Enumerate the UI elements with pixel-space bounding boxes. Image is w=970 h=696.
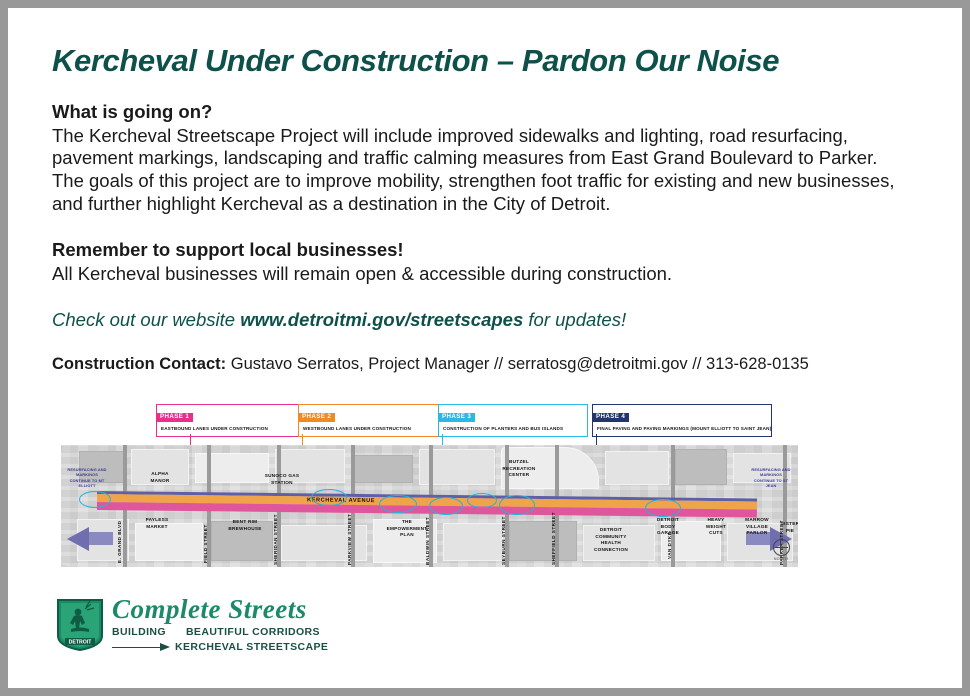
spacer: [52, 216, 922, 238]
phase-callout-4: PHASE 4 FINAL PAVING AND PAVING MARKINGS…: [592, 404, 772, 437]
map-street-label: VAN DYKE: [667, 532, 672, 559]
map-place-label: BENT RIM BREWHOUSE: [219, 519, 271, 532]
flyer-text-content: Kercheval Under Construction – Pardon Ou…: [52, 44, 922, 375]
logo-tagline-corridors: BEAUTIFUL CORRIDORS: [186, 626, 320, 638]
arrow-right-icon: [112, 643, 170, 652]
phase-1-description: EASTBOUND LANES UNDER CONSTRUCTION: [157, 423, 303, 436]
section-heading-what-is-going-on: What is going on?: [52, 100, 922, 124]
shield-wordmark: DETROIT: [69, 640, 93, 646]
phase-3-tag-wrap: PHASE 3: [439, 405, 587, 423]
map-street-label: PARKVIEW STREET: [347, 514, 352, 565]
edge-note-east: RESURFACING AND MARKINGS CONTINUE TO ST …: [751, 467, 791, 488]
section-body-support-local: All Kercheval businesses will remain ope…: [52, 263, 912, 286]
north-label: NORTH: [772, 557, 790, 561]
map-street-label: SEYBURN STREET: [501, 516, 506, 565]
phase-2-tag-wrap: PHASE 2: [299, 405, 445, 423]
bus-island-marker: [499, 495, 535, 515]
west-continuation-arrow: [67, 527, 89, 551]
complete-streets-logo: DETROIT Complete Streets BUILDINGBEAUTIF…: [52, 596, 352, 656]
map-street-label: SHEFFIELD STREET: [551, 512, 556, 565]
logo-text-block: Complete Streets BUILDINGBEAUTIFUL CORRI…: [112, 596, 352, 653]
map-street-label: FIELD STREET: [203, 524, 208, 563]
map-parcel: [351, 455, 413, 483]
map-street-label: BALDWIN STREET: [425, 517, 430, 565]
phase-callout-2: PHASE 2 WESTBOUND LANES UNDER CONSTRUCTI…: [298, 404, 446, 437]
flyer-page: Kercheval Under Construction – Pardon Ou…: [8, 8, 962, 688]
logo-script-title: Complete Streets: [112, 596, 352, 623]
map-place-label: HEAVY WEIGHT CUTS: [697, 517, 735, 537]
construction-contact: Construction Contact: Gustavo Serratos, …: [52, 354, 922, 375]
phase-callout-3: PHASE 3 CONSTRUCTION OF PLANTERS AND BUS…: [438, 404, 588, 437]
phase-1-tag-wrap: PHASE 1: [157, 405, 303, 423]
map-parcel: [509, 521, 577, 561]
phase-1-tag: PHASE 1: [157, 413, 193, 422]
bus-island-marker: [467, 493, 497, 508]
map-place-label: DETROIT COMMUNITY HEALTH CONNECTION: [583, 527, 639, 553]
website-link[interactable]: www.detroitmi.gov/streetscapes: [240, 309, 523, 330]
phase-2-description: WESTBOUND LANES UNDER CONSTRUCTION: [299, 423, 445, 436]
map-parcel: [605, 451, 669, 485]
edge-note-west: RESURFACING AND MARKINGS CONTINUE TO MT …: [67, 467, 107, 488]
logo-tagline-1: BUILDINGBEAUTIFUL CORRIDORS: [112, 626, 352, 638]
contact-label: Construction Contact:: [52, 355, 226, 373]
map-place-label: SUNOCO GAS STATION: [257, 473, 307, 486]
phase-3-description: CONSTRUCTION OF PLANTERS AND BUS ISLANDS: [439, 423, 587, 436]
compass-ring: [773, 539, 790, 556]
spacer: [52, 286, 922, 308]
bus-island-marker: [379, 495, 417, 513]
map-street-label: SHERIDAN STREET: [273, 514, 278, 565]
page-title: Kercheval Under Construction – Pardon Ou…: [52, 44, 922, 78]
logo-tagline-building: BUILDING: [112, 626, 166, 638]
bus-island-marker: [311, 489, 347, 506]
website-line: Check out our website www.detroitmi.gov/…: [52, 308, 922, 332]
section-body-what-is-going-on: The Kercheval Streetscape Project will i…: [52, 125, 912, 217]
phase-4-description: FINAL PAVING AND PAVING MARKINGS (MOUNT …: [593, 423, 771, 436]
map-parcel: [443, 523, 503, 561]
map-place-label: PAYLESS MARKET: [135, 517, 179, 530]
spirit-of-detroit-shield-icon: DETROIT: [56, 598, 104, 652]
phase-4-tag-wrap: PHASE 4: [593, 405, 771, 423]
aerial-map-image: KERCHEVAL AVENUE RESURFACING AND MARKING…: [61, 445, 798, 567]
west-continuation-shaft: [87, 532, 113, 545]
phase-4-tag: PHASE 4: [593, 413, 629, 422]
bus-island-marker: [645, 499, 681, 517]
map-place-label: ALPHA MANOR: [139, 471, 181, 484]
north-arrow-icon: NORTH: [772, 539, 790, 561]
bus-island-marker: [79, 491, 111, 508]
map-place-label: BUTZEL RECREATION CENTER: [493, 459, 545, 479]
website-prefix: Check out our website: [52, 309, 240, 330]
phase-callout-1: PHASE 1 EASTBOUND LANES UNDER CONSTRUCTI…: [156, 404, 304, 437]
map-street-label: E. GRAND BLVD: [117, 521, 122, 563]
contact-value: Gustavo Serratos, Project Manager // ser…: [226, 355, 809, 373]
map-place-label: MARROW VILLAGE PARLOR: [737, 517, 777, 537]
logo-tagline-streetscape: KERCHEVAL STREETSCAPE: [175, 641, 328, 653]
spacer: [52, 332, 922, 354]
map-parcel: [675, 449, 727, 485]
phase-2-tag: PHASE 2: [299, 413, 335, 422]
construction-phase-map: PHASE 1 EASTBOUND LANES UNDER CONSTRUCTI…: [52, 404, 798, 574]
bus-island-marker: [429, 497, 463, 515]
section-heading-support-local: Remember to support local businesses!: [52, 238, 922, 262]
logo-tagline-2: KERCHEVAL STREETSCAPE: [112, 641, 352, 653]
phase-3-tag: PHASE 3: [439, 413, 475, 422]
website-suffix: for updates!: [523, 309, 626, 330]
